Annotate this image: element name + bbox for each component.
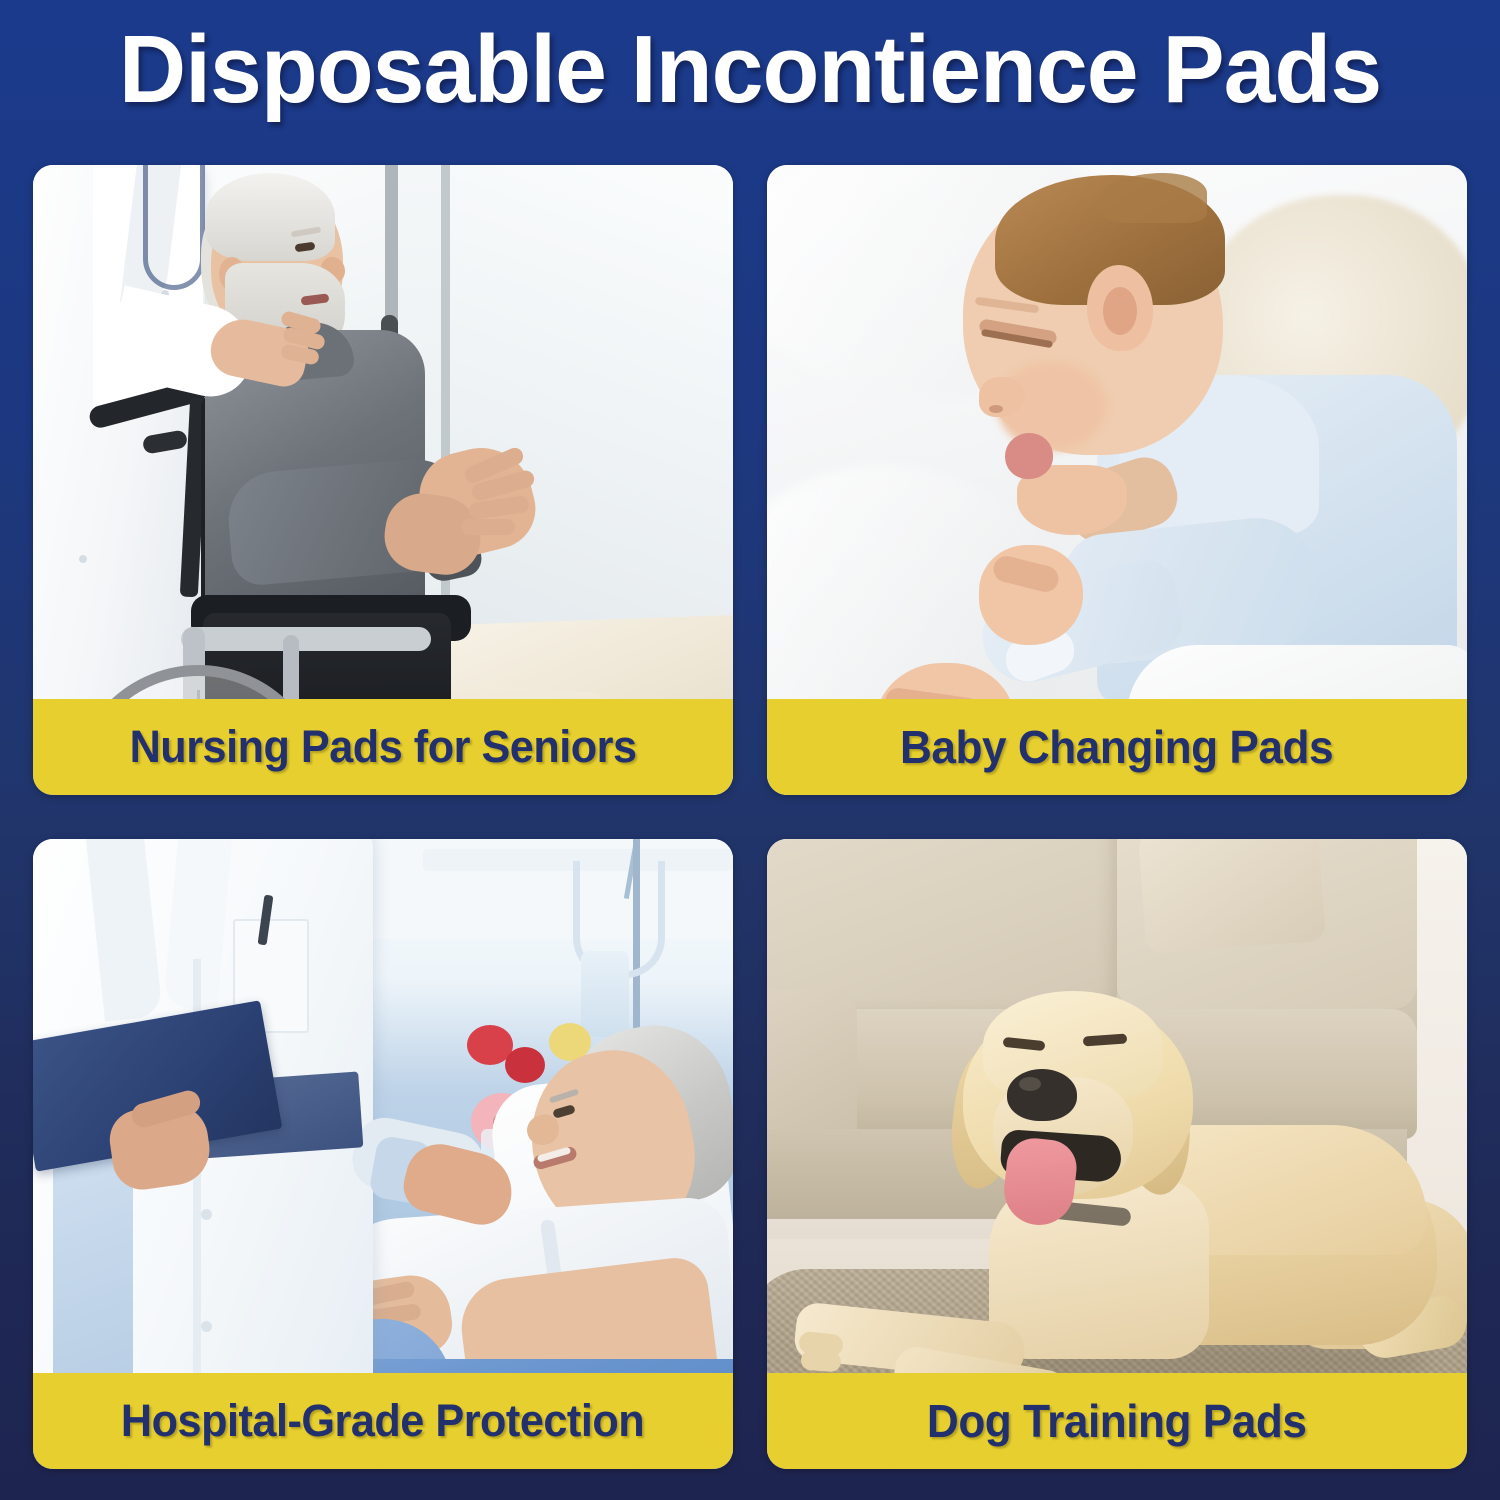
card-caption-hospital-grade-protection: Hospital-Grade Protection [33, 1373, 733, 1469]
wheelchair-armrest [181, 627, 431, 651]
doctor-coat-button [201, 1209, 212, 1220]
baby-fist-upper [979, 545, 1083, 645]
dog-nose-highlight [1019, 1077, 1041, 1091]
senior-finger [461, 519, 515, 535]
card-caption-dog-training-pads: Dog Training Pads [767, 1373, 1467, 1469]
feature-grid: Nursing Pads for Seniors [33, 165, 1467, 1475]
feature-card-baby-changing-pads[interactable]: Baby Changing Pads [767, 165, 1467, 795]
dog-toe [800, 1350, 841, 1373]
caption-label: Hospital-Grade Protection [121, 1395, 644, 1447]
throw-pillow [1138, 839, 1326, 953]
doctor-coat-button [201, 1321, 212, 1332]
stethoscope-icon [143, 165, 205, 290]
card-caption-baby-changing-pads: Baby Changing Pads [767, 699, 1467, 795]
page-title: Disposable Incontience Pads [23, 18, 1478, 122]
flower-red [505, 1047, 545, 1083]
feature-card-nursing-pads-for-seniors[interactable]: Nursing Pads for Seniors [33, 165, 733, 795]
caption-label: Dog Training Pads [927, 1394, 1307, 1448]
baby-inner-ear [1103, 287, 1137, 335]
senior-hair [205, 173, 335, 261]
feature-card-dog-training-pads[interactable]: Dog Training Pads [767, 839, 1467, 1469]
feature-card-hospital-grade-protection[interactable]: Hospital-Grade Protection [33, 839, 733, 1469]
coat-button-lower [79, 555, 87, 563]
caption-label: Nursing Pads for Seniors [130, 721, 637, 773]
dog-nose [1007, 1069, 1077, 1121]
card-caption-nursing-pads-for-seniors: Nursing Pads for Seniors [33, 699, 733, 795]
baby-nostril [989, 405, 1003, 413]
caption-label: Baby Changing Pads [900, 720, 1333, 774]
product-infographic-poster: Disposable Incontience Pads [0, 0, 1500, 1500]
